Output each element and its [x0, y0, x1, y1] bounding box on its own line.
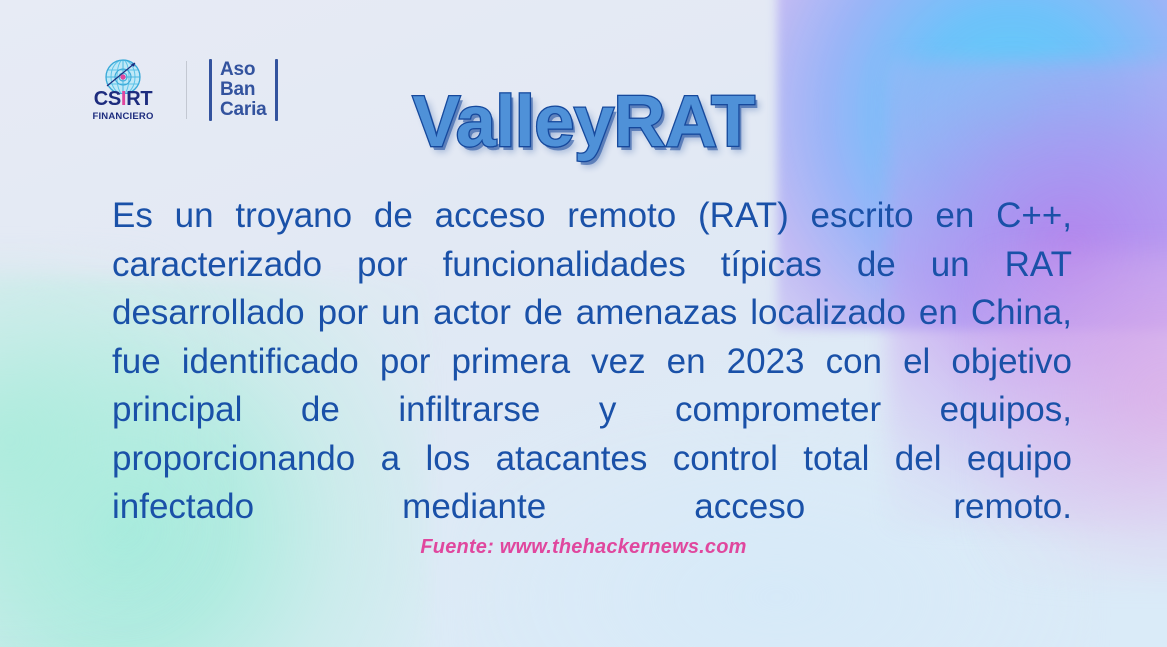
- body-paragraph: Es un troyano de acceso remoto (RAT) esc…: [112, 192, 1072, 532]
- body-paragraph-text: Es un troyano de acceso remoto (RAT) esc…: [112, 196, 1072, 478]
- csirt-wordmark-pre: CS: [94, 88, 121, 110]
- asobancaria-logo: Aso Ban Caria: [209, 59, 278, 121]
- infographic-canvas: CSIRT FINANCIERO Aso Ban Caria ValleyRAT…: [0, 0, 1167, 647]
- csirt-wordmark-post: RT: [126, 88, 152, 110]
- logo-divider: [186, 61, 187, 119]
- asobancaria-line-3: Caria: [220, 100, 267, 120]
- body-paragraph-tail: infectado mediante acceso remoto.: [112, 487, 1072, 526]
- asobancaria-wordmark: Aso Ban Caria: [220, 59, 267, 121]
- csirt-subtitle: FINANCIERO: [92, 111, 153, 122]
- csirt-wordmark: CSIRT: [94, 89, 153, 109]
- asobancaria-line-2: Ban: [220, 80, 267, 100]
- source-attribution: Fuente: www.thehackernews.com: [0, 536, 1167, 559]
- asobancaria-rule-left: [209, 59, 212, 121]
- asobancaria-line-1: Aso: [220, 60, 267, 80]
- asobancaria-rule-right: [275, 59, 278, 121]
- csirt-financiero-logo: CSIRT FINANCIERO: [84, 58, 162, 122]
- logo-bar: CSIRT FINANCIERO Aso Ban Caria: [84, 52, 278, 128]
